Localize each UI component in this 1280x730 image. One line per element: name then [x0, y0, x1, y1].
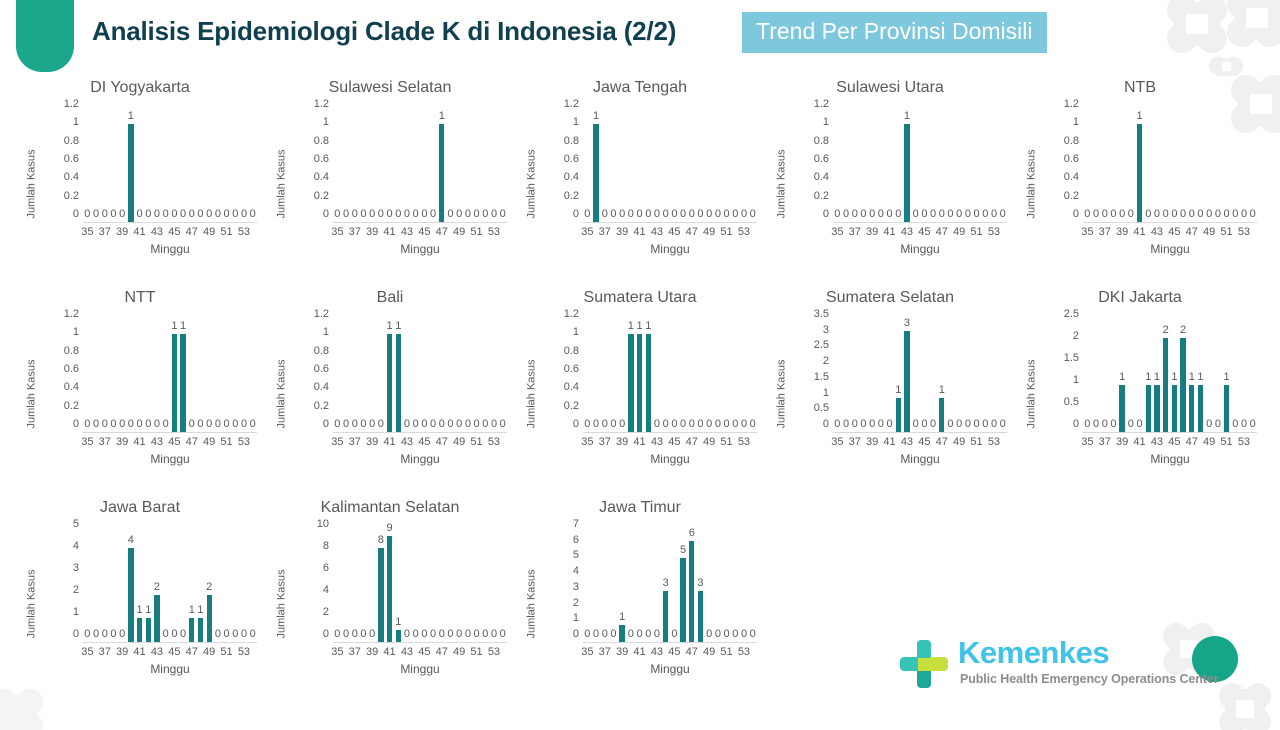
- bar-slot[interactable]: 0: [1100, 104, 1109, 222]
- bar-slot[interactable]: 0: [600, 314, 609, 432]
- bar-slot[interactable]: 0: [946, 314, 955, 432]
- bar-slot[interactable]: 1: [1118, 314, 1127, 432]
- bar-slot[interactable]: 1: [1196, 314, 1205, 432]
- bar[interactable]: [680, 558, 685, 642]
- bar-slot[interactable]: 0: [92, 314, 101, 432]
- bar-slot[interactable]: 0: [911, 104, 920, 222]
- bar-slot[interactable]: 0: [1240, 104, 1249, 222]
- bar-slot[interactable]: 1: [170, 314, 179, 432]
- bar-slot[interactable]: 1: [196, 524, 205, 642]
- bar-slot[interactable]: 0: [144, 104, 153, 222]
- bar-slot[interactable]: 1: [1187, 314, 1196, 432]
- bar-slot[interactable]: 1: [1222, 314, 1231, 432]
- bar-slot[interactable]: 0: [248, 524, 257, 642]
- bar-slot[interactable]: 0: [214, 524, 223, 642]
- bar-slot[interactable]: 0: [1170, 104, 1179, 222]
- bar-slot[interactable]: 0: [929, 314, 938, 432]
- bar-slot[interactable]: 1: [1144, 314, 1153, 432]
- bar-slot[interactable]: 0: [618, 104, 627, 222]
- bar-slot[interactable]: 0: [385, 104, 394, 222]
- bar[interactable]: [939, 398, 944, 432]
- bar[interactable]: [1172, 385, 1177, 432]
- bar-slot[interactable]: 0: [359, 314, 368, 432]
- bar-slot[interactable]: 0: [955, 104, 964, 222]
- bar-slot[interactable]: 0: [696, 104, 705, 222]
- bar-slot[interactable]: 0: [490, 314, 499, 432]
- bar-slot[interactable]: 0: [687, 104, 696, 222]
- bar-slot[interactable]: 0: [653, 314, 662, 432]
- bar-slot[interactable]: 0: [1248, 314, 1257, 432]
- bar-slot[interactable]: 0: [1161, 104, 1170, 222]
- bar-slot[interactable]: 0: [153, 104, 162, 222]
- bar-slot[interactable]: 0: [1240, 314, 1249, 432]
- bar-slot[interactable]: 0: [833, 314, 842, 432]
- bar-slot[interactable]: 1: [394, 314, 403, 432]
- bar-slot[interactable]: 0: [161, 524, 170, 642]
- bar-slot[interactable]: 0: [661, 314, 670, 432]
- bar-slot[interactable]: 0: [740, 524, 749, 642]
- bar-slot[interactable]: 0: [83, 314, 92, 432]
- bar-slot[interactable]: 0: [1179, 104, 1188, 222]
- bar-slot[interactable]: 0: [205, 104, 214, 222]
- bar-slot[interactable]: 0: [1092, 314, 1101, 432]
- bar-slot[interactable]: 0: [161, 104, 170, 222]
- bar-slot[interactable]: 0: [748, 314, 757, 432]
- bar-slot[interactable]: 0: [490, 104, 499, 222]
- bar-slot[interactable]: 0: [859, 314, 868, 432]
- bar-slot[interactable]: 0: [1222, 104, 1231, 222]
- bar-slot[interactable]: 0: [722, 314, 731, 432]
- bar-slot[interactable]: 0: [446, 314, 455, 432]
- bar[interactable]: [1198, 385, 1203, 432]
- bar-slot[interactable]: 0: [609, 104, 618, 222]
- bar-slot[interactable]: 0: [350, 104, 359, 222]
- bar-slot[interactable]: 0: [833, 104, 842, 222]
- bar-slot[interactable]: 0: [842, 314, 851, 432]
- bar-slot[interactable]: 2: [153, 524, 162, 642]
- bar-slot[interactable]: 0: [411, 524, 420, 642]
- bar-slot[interactable]: 0: [885, 104, 894, 222]
- bar-slot[interactable]: 0: [1214, 104, 1223, 222]
- bar-slot[interactable]: 0: [403, 314, 412, 432]
- bar-slot[interactable]: 0: [929, 104, 938, 222]
- bar-slot[interactable]: 0: [998, 104, 1007, 222]
- bar-slot[interactable]: 0: [411, 314, 420, 432]
- bar-slot[interactable]: 0: [868, 104, 877, 222]
- bar-slot[interactable]: 8: [377, 524, 386, 642]
- bar-slot[interactable]: 0: [144, 314, 153, 432]
- bar-slot[interactable]: 1: [1135, 104, 1144, 222]
- bar-slot[interactable]: 0: [333, 314, 342, 432]
- bar-slot[interactable]: 1: [179, 314, 188, 432]
- bar-slot[interactable]: 0: [1205, 314, 1214, 432]
- bar[interactable]: [154, 595, 159, 642]
- bar-slot[interactable]: 1: [1170, 314, 1179, 432]
- bar-slot[interactable]: 0: [981, 314, 990, 432]
- bar-slot[interactable]: 3: [903, 314, 912, 432]
- bar-slot[interactable]: 0: [118, 104, 127, 222]
- bar-slot[interactable]: 0: [92, 524, 101, 642]
- bar-slot[interactable]: 0: [670, 104, 679, 222]
- bar-slot[interactable]: 0: [583, 104, 592, 222]
- bar-slot[interactable]: 0: [464, 314, 473, 432]
- bar-slot[interactable]: 0: [885, 314, 894, 432]
- bar-slot[interactable]: 0: [635, 524, 644, 642]
- bar[interactable]: [646, 334, 651, 432]
- bar-slot[interactable]: 0: [920, 104, 929, 222]
- bar-slot[interactable]: 0: [196, 314, 205, 432]
- bar[interactable]: [387, 536, 392, 642]
- bar-slot[interactable]: 0: [411, 104, 420, 222]
- bar-slot[interactable]: 0: [592, 314, 601, 432]
- bar-slot[interactable]: 0: [583, 314, 592, 432]
- bar-slot[interactable]: 0: [842, 104, 851, 222]
- bar[interactable]: [663, 591, 668, 642]
- bar-slot[interactable]: 0: [161, 314, 170, 432]
- bar-slot[interactable]: 0: [498, 104, 507, 222]
- bar-slot[interactable]: 0: [964, 104, 973, 222]
- bar-slot[interactable]: 0: [359, 524, 368, 642]
- bar-slot[interactable]: 5: [679, 524, 688, 642]
- bar-slot[interactable]: 0: [472, 524, 481, 642]
- bar-slot[interactable]: 1: [1153, 314, 1162, 432]
- x-axis-ticks: 35373941434547495153: [583, 434, 757, 450]
- bar[interactable]: [1163, 338, 1168, 432]
- bar[interactable]: [137, 618, 142, 642]
- bar-slot[interactable]: 0: [498, 524, 507, 642]
- bar-slot[interactable]: 0: [420, 524, 429, 642]
- bar-slot[interactable]: 0: [481, 314, 490, 432]
- bar[interactable]: [1146, 385, 1151, 432]
- bar-slot[interactable]: 0: [679, 314, 688, 432]
- bar-slot[interactable]: 0: [179, 524, 188, 642]
- bar-slot[interactable]: 6: [687, 524, 696, 642]
- bar[interactable]: [180, 334, 185, 432]
- bar-slot[interactable]: 0: [618, 314, 627, 432]
- bar-slot[interactable]: 0: [464, 104, 473, 222]
- bar-slot[interactable]: 0: [1231, 104, 1240, 222]
- bar[interactable]: [172, 334, 177, 432]
- bar-slot[interactable]: 0: [377, 314, 386, 432]
- bar-slot[interactable]: 0: [1205, 104, 1214, 222]
- bar-slot[interactable]: 0: [240, 104, 249, 222]
- bar-slot[interactable]: 0: [464, 524, 473, 642]
- bar-slot[interactable]: 0: [1109, 104, 1118, 222]
- bar-slot[interactable]: 0: [135, 314, 144, 432]
- bar[interactable]: [1154, 385, 1159, 432]
- bar-slot[interactable]: 0: [377, 104, 386, 222]
- bar-slot[interactable]: 0: [748, 524, 757, 642]
- bar-slot[interactable]: 0: [231, 104, 240, 222]
- bar-slot[interactable]: 0: [1109, 314, 1118, 432]
- bar-slot[interactable]: 1: [385, 314, 394, 432]
- bar-slot[interactable]: 0: [740, 104, 749, 222]
- bar-slot[interactable]: 0: [214, 104, 223, 222]
- bar[interactable]: [619, 625, 624, 642]
- bar-slot[interactable]: 0: [661, 104, 670, 222]
- bar[interactable]: [128, 548, 133, 642]
- bar-slot[interactable]: 0: [455, 104, 464, 222]
- bar-slot[interactable]: 0: [222, 524, 231, 642]
- bar-slot[interactable]: 0: [170, 104, 179, 222]
- bar-slot[interactable]: 0: [972, 104, 981, 222]
- bar-slot[interactable]: 1: [592, 104, 601, 222]
- bar-slot[interactable]: 0: [1248, 104, 1257, 222]
- bar-slot[interactable]: 0: [403, 104, 412, 222]
- bar-slot[interactable]: 1: [627, 314, 636, 432]
- bar[interactable]: [896, 398, 901, 432]
- bar-slot[interactable]: 9: [385, 524, 394, 642]
- bar-slot[interactable]: 0: [731, 104, 740, 222]
- bar-slot[interactable]: 0: [118, 314, 127, 432]
- bar-slot[interactable]: 0: [333, 104, 342, 222]
- bar-slot[interactable]: 0: [1144, 104, 1153, 222]
- bar-slot[interactable]: 0: [714, 104, 723, 222]
- bar-slot[interactable]: 0: [670, 524, 679, 642]
- bar-slot[interactable]: 0: [368, 524, 377, 642]
- bar-slot[interactable]: 0: [196, 104, 205, 222]
- bar-slot[interactable]: 0: [83, 524, 92, 642]
- bar-slot[interactable]: 0: [946, 104, 955, 222]
- bar-slot[interactable]: 0: [850, 314, 859, 432]
- bar-slot[interactable]: 0: [653, 104, 662, 222]
- bar-slot[interactable]: 0: [455, 314, 464, 432]
- bar-slot[interactable]: 0: [705, 104, 714, 222]
- bar-slot[interactable]: 0: [420, 314, 429, 432]
- bar-slot[interactable]: 0: [1196, 104, 1205, 222]
- bar-slot[interactable]: 1: [903, 104, 912, 222]
- bar-slot[interactable]: 0: [187, 314, 196, 432]
- bar-slot[interactable]: 1: [187, 524, 196, 642]
- bar[interactable]: [396, 334, 401, 432]
- bar-slot[interactable]: 0: [437, 314, 446, 432]
- bar-slot[interactable]: 0: [705, 524, 714, 642]
- bar-slot[interactable]: 0: [109, 104, 118, 222]
- bar-slot[interactable]: 0: [248, 314, 257, 432]
- bar-slot[interactable]: 0: [446, 524, 455, 642]
- bar-slot[interactable]: 0: [1118, 104, 1127, 222]
- bar-slot[interactable]: 0: [955, 314, 964, 432]
- bar-slot[interactable]: 0: [342, 314, 351, 432]
- bar-slot[interactable]: 0: [894, 104, 903, 222]
- bar-slot[interactable]: 1: [937, 314, 946, 432]
- bar-slot[interactable]: 0: [187, 104, 196, 222]
- bar-slot[interactable]: 0: [429, 104, 438, 222]
- bar-slot[interactable]: 0: [231, 314, 240, 432]
- bar-slot[interactable]: 0: [687, 314, 696, 432]
- bar-slot[interactable]: 0: [714, 524, 723, 642]
- bar-slot[interactable]: 0: [109, 314, 118, 432]
- bar[interactable]: [378, 548, 383, 642]
- bar-slot[interactable]: 0: [403, 524, 412, 642]
- bar-slot[interactable]: 0: [420, 104, 429, 222]
- bar[interactable]: [1224, 385, 1229, 432]
- bar[interactable]: [1180, 338, 1185, 432]
- bar-slot[interactable]: 0: [627, 524, 636, 642]
- bar-slot[interactable]: 0: [127, 314, 136, 432]
- bar[interactable]: [628, 334, 633, 432]
- bar[interactable]: [146, 618, 151, 642]
- bar-slot[interactable]: 0: [1083, 314, 1092, 432]
- bar-slot[interactable]: 0: [240, 314, 249, 432]
- bar-slot[interactable]: 0: [481, 524, 490, 642]
- bar-slot[interactable]: 0: [600, 524, 609, 642]
- bar-slot[interactable]: 0: [644, 104, 653, 222]
- bar-slot[interactable]: 0: [653, 524, 662, 642]
- bar-slot[interactable]: 1: [644, 314, 653, 432]
- bar-slot[interactable]: 0: [1135, 314, 1144, 432]
- bar-slot[interactable]: 1: [127, 104, 136, 222]
- bar[interactable]: [904, 331, 909, 432]
- bar-slot[interactable]: 0: [170, 524, 179, 642]
- bar-slot[interactable]: 0: [877, 104, 886, 222]
- bar-slot[interactable]: 0: [877, 314, 886, 432]
- bar-slot[interactable]: 0: [100, 314, 109, 432]
- bar-slot[interactable]: 1: [394, 524, 403, 642]
- bar-slot[interactable]: 0: [1100, 314, 1109, 432]
- bar-slot[interactable]: 0: [1187, 104, 1196, 222]
- bar[interactable]: [698, 591, 703, 642]
- bar-slot[interactable]: 0: [222, 314, 231, 432]
- bar-slot[interactable]: 1: [635, 314, 644, 432]
- bar-slot[interactable]: 0: [240, 524, 249, 642]
- bar[interactable]: [439, 124, 444, 222]
- bar-slot[interactable]: 0: [740, 314, 749, 432]
- bar-slot[interactable]: 2: [1161, 314, 1170, 432]
- bar-slot[interactable]: 0: [644, 524, 653, 642]
- bar-slot[interactable]: 0: [429, 524, 438, 642]
- bar-slot[interactable]: 0: [109, 524, 118, 642]
- bar-slot[interactable]: 0: [231, 524, 240, 642]
- bar-slot[interactable]: 0: [455, 524, 464, 642]
- bar-slot[interactable]: 0: [1127, 314, 1136, 432]
- bar-slot[interactable]: 0: [609, 314, 618, 432]
- bar-slot[interactable]: 0: [731, 524, 740, 642]
- bar-slot[interactable]: 0: [153, 314, 162, 432]
- bar-slot[interactable]: 0: [205, 314, 214, 432]
- bar-slot[interactable]: 0: [394, 104, 403, 222]
- bar-slot[interactable]: 0: [214, 314, 223, 432]
- bar[interactable]: [387, 334, 392, 432]
- bar[interactable]: [904, 124, 909, 222]
- bar[interactable]: [198, 618, 203, 642]
- bar-slot[interactable]: 0: [731, 314, 740, 432]
- bar-slot[interactable]: 0: [972, 314, 981, 432]
- bar-slot[interactable]: 0: [920, 314, 929, 432]
- bar-slot[interactable]: 0: [990, 314, 999, 432]
- bar-slot[interactable]: 0: [350, 524, 359, 642]
- bar-slot[interactable]: 0: [359, 104, 368, 222]
- bar-slot[interactable]: 0: [990, 104, 999, 222]
- bar-slot[interactable]: 0: [1231, 314, 1240, 432]
- bar-slot[interactable]: 0: [635, 104, 644, 222]
- bar-slot[interactable]: 1: [894, 314, 903, 432]
- bar-slot[interactable]: 0: [179, 104, 188, 222]
- bar-slot[interactable]: 0: [135, 104, 144, 222]
- bar-slot[interactable]: 0: [722, 104, 731, 222]
- bar[interactable]: [207, 595, 212, 642]
- bar-slot[interactable]: 0: [100, 524, 109, 642]
- bar-slot[interactable]: 0: [627, 104, 636, 222]
- bar-slot[interactable]: 0: [911, 314, 920, 432]
- bar-slot[interactable]: 0: [600, 104, 609, 222]
- bar-slot[interactable]: 0: [83, 104, 92, 222]
- bar-slot[interactable]: 0: [705, 314, 714, 432]
- bar-slot[interactable]: 2: [205, 524, 214, 642]
- bar[interactable]: [689, 541, 694, 642]
- bar-slot[interactable]: 1: [135, 524, 144, 642]
- bar[interactable]: [637, 334, 642, 432]
- bar-slot[interactable]: 0: [583, 524, 592, 642]
- bar-slot[interactable]: 0: [1127, 104, 1136, 222]
- bar-slot[interactable]: 0: [937, 104, 946, 222]
- bar-slot[interactable]: 0: [868, 314, 877, 432]
- bar-slot[interactable]: 0: [446, 104, 455, 222]
- bar-slot[interactable]: 0: [342, 524, 351, 642]
- bar-slot[interactable]: 1: [144, 524, 153, 642]
- bar-slot[interactable]: 0: [1214, 314, 1223, 432]
- bar-slot[interactable]: 0: [350, 314, 359, 432]
- bar-slot[interactable]: 0: [670, 314, 679, 432]
- bar[interactable]: [128, 124, 133, 222]
- bar-slot[interactable]: 0: [118, 524, 127, 642]
- bar-slot[interactable]: 0: [609, 524, 618, 642]
- bar-slot[interactable]: 0: [472, 314, 481, 432]
- bar[interactable]: [189, 618, 194, 642]
- bar[interactable]: [1137, 124, 1142, 222]
- bar-slot[interactable]: 0: [222, 104, 231, 222]
- bar-slot[interactable]: 0: [592, 524, 601, 642]
- bar-slot[interactable]: 0: [368, 314, 377, 432]
- bar-slot[interactable]: 3: [696, 524, 705, 642]
- bar-slot[interactable]: 0: [859, 104, 868, 222]
- bar-slot[interactable]: 0: [437, 524, 446, 642]
- bar-slot[interactable]: 0: [368, 104, 377, 222]
- bar-slot[interactable]: 0: [472, 104, 481, 222]
- bar-slot[interactable]: 0: [481, 104, 490, 222]
- bar-slot[interactable]: 0: [722, 524, 731, 642]
- bar[interactable]: [1119, 385, 1124, 432]
- bar-slot[interactable]: 0: [964, 314, 973, 432]
- bar[interactable]: [1189, 385, 1194, 432]
- bar-slot[interactable]: 0: [342, 104, 351, 222]
- bar-slot[interactable]: 0: [498, 314, 507, 432]
- bar-slot[interactable]: 2: [1179, 314, 1188, 432]
- bar-slot[interactable]: 0: [714, 314, 723, 432]
- bar-slot[interactable]: 0: [333, 524, 342, 642]
- bar-slot[interactable]: 0: [1083, 104, 1092, 222]
- bar-slot[interactable]: 4: [127, 524, 136, 642]
- bar-slot[interactable]: 0: [429, 314, 438, 432]
- bar-slot[interactable]: 0: [998, 314, 1007, 432]
- bar-slot[interactable]: 0: [679, 104, 688, 222]
- bar[interactable]: [593, 124, 598, 222]
- bar-slot[interactable]: 0: [248, 104, 257, 222]
- bar-slot[interactable]: 0: [696, 314, 705, 432]
- bar-slot[interactable]: 0: [748, 104, 757, 222]
- bar-slot[interactable]: 0: [1153, 104, 1162, 222]
- bar-slot[interactable]: 0: [490, 524, 499, 642]
- bar-slot[interactable]: 0: [1092, 104, 1101, 222]
- bar-slot[interactable]: 0: [92, 104, 101, 222]
- bar-slot[interactable]: 0: [100, 104, 109, 222]
- bar-slot[interactable]: 1: [437, 104, 446, 222]
- bar-slot[interactable]: 0: [850, 104, 859, 222]
- bar-slot[interactable]: 1: [618, 524, 627, 642]
- bar[interactable]: [396, 630, 401, 642]
- bar-slot[interactable]: 0: [981, 104, 990, 222]
- bar-slot[interactable]: 3: [661, 524, 670, 642]
